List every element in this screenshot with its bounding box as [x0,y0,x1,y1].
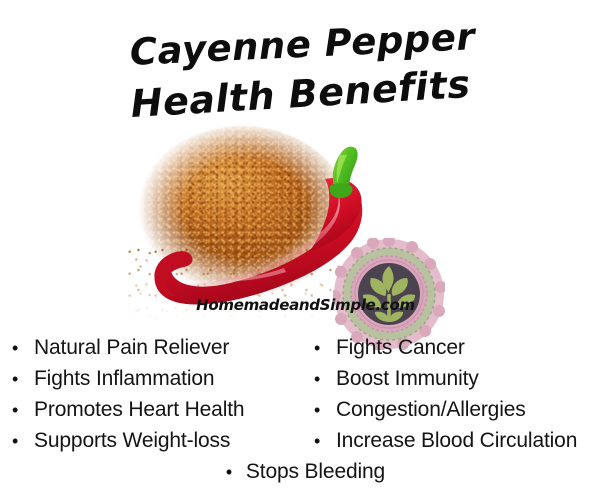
title-line-1: Cayenne Pepper [0,8,611,82]
infographic-canvas: Cayenne Pepper Health Benefits Homemadea… [0,0,611,498]
list-item: • Promotes Heart Health [12,394,304,425]
benefit-label: Increase Blood Circulation [336,425,577,456]
benefit-label: Promotes Heart Health [34,394,244,425]
bullet-icon: • [12,333,34,364]
benefit-label: Fights Cancer [336,332,465,363]
bullet-icon: • [314,426,336,457]
benefits-right-column: • Fights Cancer • Boost Immunity • Conge… [314,332,611,456]
benefit-label: Fights Inflammation [34,363,214,394]
list-item: • Increase Blood Circulation [314,425,611,456]
bullet-icon: • [12,426,34,457]
list-item: • Stops Bleeding [0,456,611,488]
bullet-icon: • [314,333,336,364]
watermark-text: HomemadeandSimple.com [0,296,611,314]
list-item: • Fights Inflammation [12,363,304,394]
benefit-label: Congestion/Allergies [336,394,526,425]
bullet-icon: • [226,457,246,488]
benefit-label: Natural Pain Reliever [34,332,229,363]
bullet-icon: • [12,364,34,395]
bullet-icon: • [12,395,34,426]
bullet-icon: • [314,364,336,395]
list-item: • Fights Cancer [314,332,611,363]
benefit-label: Boost Immunity [336,363,479,394]
benefits-list: • Natural Pain Reliever • Fights Inflamm… [0,332,611,498]
list-item: • Boost Immunity [314,363,611,394]
bullet-icon: • [314,395,336,426]
benefits-left-column: • Natural Pain Reliever • Fights Inflamm… [12,332,304,456]
benefit-label: Stops Bleeding [246,456,385,487]
page-title: Cayenne Pepper Health Benefits [0,22,611,118]
list-item: • Supports Weight-loss [12,425,304,456]
list-item: • Congestion/Allergies [314,394,611,425]
benefit-label: Supports Weight-loss [34,425,230,456]
list-item: • Natural Pain Reliever [12,332,304,363]
